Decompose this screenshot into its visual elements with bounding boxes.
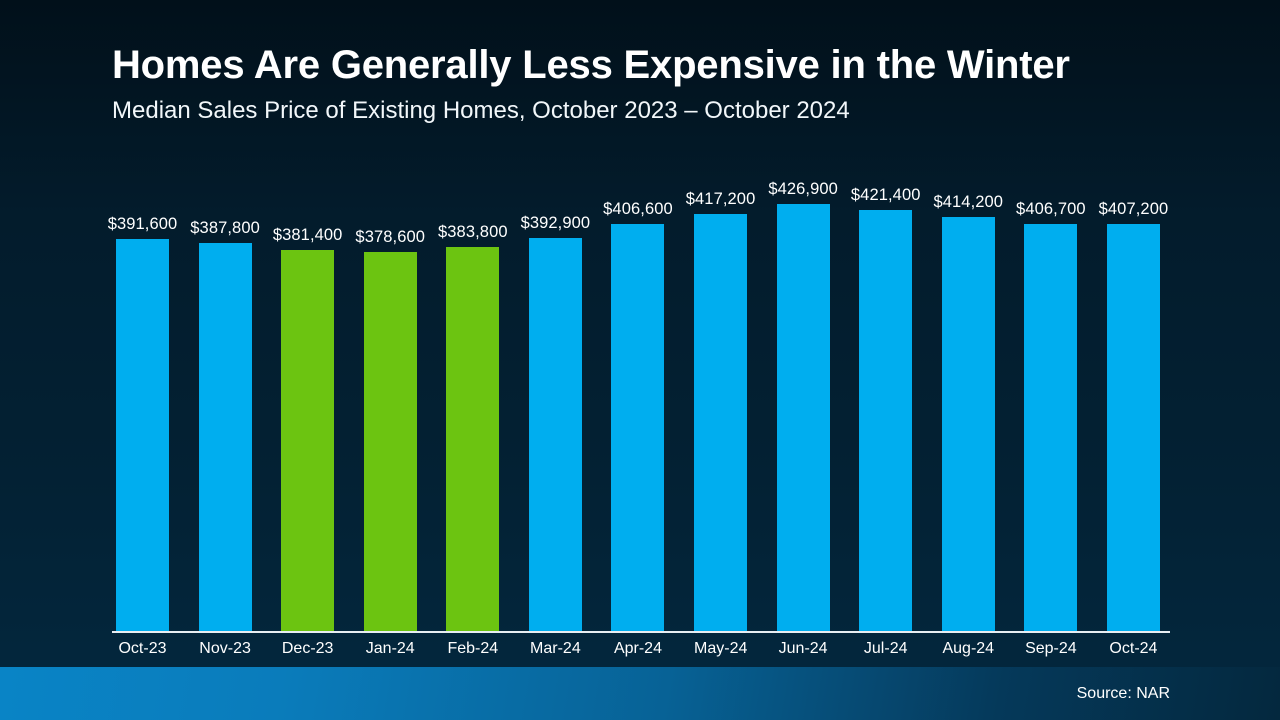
bar-slot: $406,700 <box>1024 160 1077 632</box>
bar-value-label: $407,200 <box>1099 200 1169 219</box>
bar-jan-24[interactable] <box>364 252 417 632</box>
axis-label-jul-24: Jul-24 <box>859 640 912 664</box>
footer-band: Source: NAR <box>0 667 1280 720</box>
bar-column[interactable]: $391,600 <box>116 239 169 632</box>
bar-slot: $392,900 <box>529 160 582 632</box>
bar-value-label: $383,800 <box>438 223 508 242</box>
bar-may-24[interactable] <box>694 214 747 632</box>
bar-slot: $406,600 <box>611 160 664 632</box>
bar-column[interactable]: $414,200 <box>942 217 995 632</box>
bar-aug-24[interactable] <box>942 217 995 632</box>
source-note: Source: NAR <box>1077 685 1170 703</box>
axis-label-jun-24: Jun-24 <box>777 640 830 664</box>
bar-column[interactable]: $406,600 <box>611 224 664 632</box>
x-axis-line <box>112 631 1170 633</box>
bar-slot: $391,600 <box>116 160 169 632</box>
axis-label-jan-24: Jan-24 <box>364 640 417 664</box>
x-axis-tick-labels: Oct-23Nov-23Dec-23Jan-24Feb-24Mar-24Apr-… <box>112 640 1172 664</box>
bar-value-label: $392,900 <box>521 214 591 233</box>
bar-oct-23[interactable] <box>116 239 169 632</box>
bar-jun-24[interactable] <box>777 204 830 632</box>
chart-subtitle: Median Sales Price of Existing Homes, Oc… <box>112 98 1192 124</box>
chart-header: Homes Are Generally Less Expensive in th… <box>112 44 1192 124</box>
bar-jul-24[interactable] <box>859 210 912 632</box>
bar-value-label: $406,600 <box>603 200 673 219</box>
bar-value-label: $426,900 <box>768 180 838 199</box>
page-title: Homes Are Generally Less Expensive in th… <box>112 44 1192 86</box>
slide-canvas: Homes Are Generally Less Expensive in th… <box>0 0 1280 720</box>
bar-column[interactable]: $421,400 <box>859 210 912 632</box>
bar-column[interactable]: $417,200 <box>694 214 747 632</box>
bar-nov-23[interactable] <box>199 243 252 632</box>
bar-slot: $383,800 <box>446 160 499 632</box>
bar-column[interactable]: $381,400 <box>281 250 334 632</box>
bar-slot: $421,400 <box>859 160 912 632</box>
bar-slot: $417,200 <box>694 160 747 632</box>
axis-label-mar-24: Mar-24 <box>529 640 582 664</box>
bar-slot: $381,400 <box>281 160 334 632</box>
bar-column[interactable]: $387,800 <box>199 243 252 632</box>
bar-slot: $387,800 <box>199 160 252 632</box>
axis-label-apr-24: Apr-24 <box>611 640 664 664</box>
axis-label-feb-24: Feb-24 <box>446 640 499 664</box>
bar-value-label: $414,200 <box>933 193 1003 212</box>
axis-label-oct-23: Oct-23 <box>116 640 169 664</box>
bar-sep-24[interactable] <box>1024 224 1077 632</box>
bar-value-label: $381,400 <box>273 226 343 245</box>
axis-label-may-24: May-24 <box>694 640 747 664</box>
bar-series: $391,600$387,800$381,400$378,600$383,800… <box>112 160 1172 632</box>
axis-label-sep-24: Sep-24 <box>1024 640 1077 664</box>
bar-mar-24[interactable] <box>529 238 582 632</box>
bar-value-label: $417,200 <box>686 190 756 209</box>
axis-label-oct-24: Oct-24 <box>1107 640 1160 664</box>
bar-apr-24[interactable] <box>611 224 664 632</box>
bar-oct-24[interactable] <box>1107 224 1160 632</box>
axis-label-aug-24: Aug-24 <box>942 640 995 664</box>
chart-plot-area: $391,600$387,800$381,400$378,600$383,800… <box>112 160 1172 632</box>
bar-column[interactable]: $406,700 <box>1024 224 1077 632</box>
bar-column[interactable]: $383,800 <box>446 247 499 632</box>
bar-slot: $407,200 <box>1107 160 1160 632</box>
bar-slot: $414,200 <box>942 160 995 632</box>
bar-feb-24[interactable] <box>446 247 499 632</box>
bar-value-label: $406,700 <box>1016 200 1086 219</box>
bar-dec-23[interactable] <box>281 250 334 632</box>
bar-value-label: $421,400 <box>851 186 921 205</box>
bar-value-label: $391,600 <box>108 215 178 234</box>
bar-column[interactable]: $378,600 <box>364 252 417 632</box>
bar-value-label: $387,800 <box>190 219 260 238</box>
bar-column[interactable]: $392,900 <box>529 238 582 632</box>
bar-slot: $426,900 <box>777 160 830 632</box>
bar-column[interactable]: $426,900 <box>777 204 830 632</box>
axis-label-nov-23: Nov-23 <box>199 640 252 664</box>
axis-label-dec-23: Dec-23 <box>281 640 334 664</box>
bar-slot: $378,600 <box>364 160 417 632</box>
bar-column[interactable]: $407,200 <box>1107 224 1160 632</box>
bar-value-label: $378,600 <box>355 228 425 247</box>
